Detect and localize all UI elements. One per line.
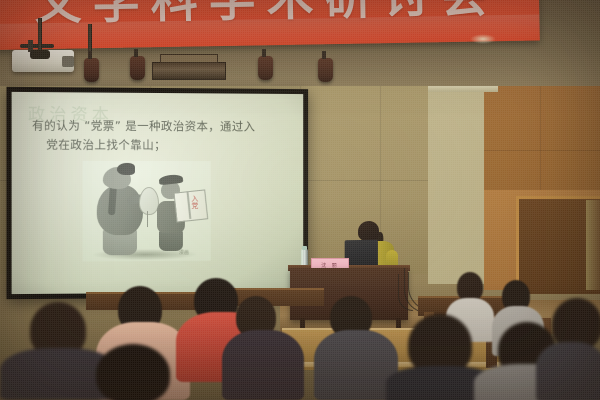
stage-spotlight-icon	[84, 58, 99, 82]
banner-support-pole	[88, 24, 92, 54]
presenter-laptop	[345, 240, 378, 269]
stage-spotlight-icon	[130, 56, 145, 80]
audience-torso	[222, 330, 304, 400]
door-light-glow	[586, 200, 600, 290]
projection-screen: 政治资本 有的认为 “党票” 是一种政治资本，通过入 党在政治上找个靠山；	[6, 87, 308, 299]
lighting-truss	[152, 62, 226, 80]
wall-seam	[484, 150, 600, 151]
truss-top-rail	[160, 54, 218, 63]
speaker-hair	[358, 221, 379, 241]
audience-torso	[536, 342, 600, 400]
right-wall-beige	[428, 84, 484, 284]
projection-surface: 政治资本 有的认为 “党票” 是一种政治资本，通过入 党在政治上找个靠山；	[12, 92, 304, 294]
projector-lens	[62, 56, 74, 67]
audience-head	[96, 344, 170, 400]
banner-glare	[470, 34, 496, 44]
banner-pole-base	[30, 50, 50, 59]
water-bottle-cap	[302, 246, 307, 250]
stage-spotlight-icon	[318, 58, 333, 82]
lecture-hall-photo: 义学科学术研讨会 政治资本 有的认为 “党票” 是一种政治资本，通过入 党在政治…	[0, 0, 600, 400]
stage-spotlight-icon	[258, 56, 273, 80]
projector-mount-arm	[20, 44, 54, 48]
wall-seam	[540, 80, 541, 190]
